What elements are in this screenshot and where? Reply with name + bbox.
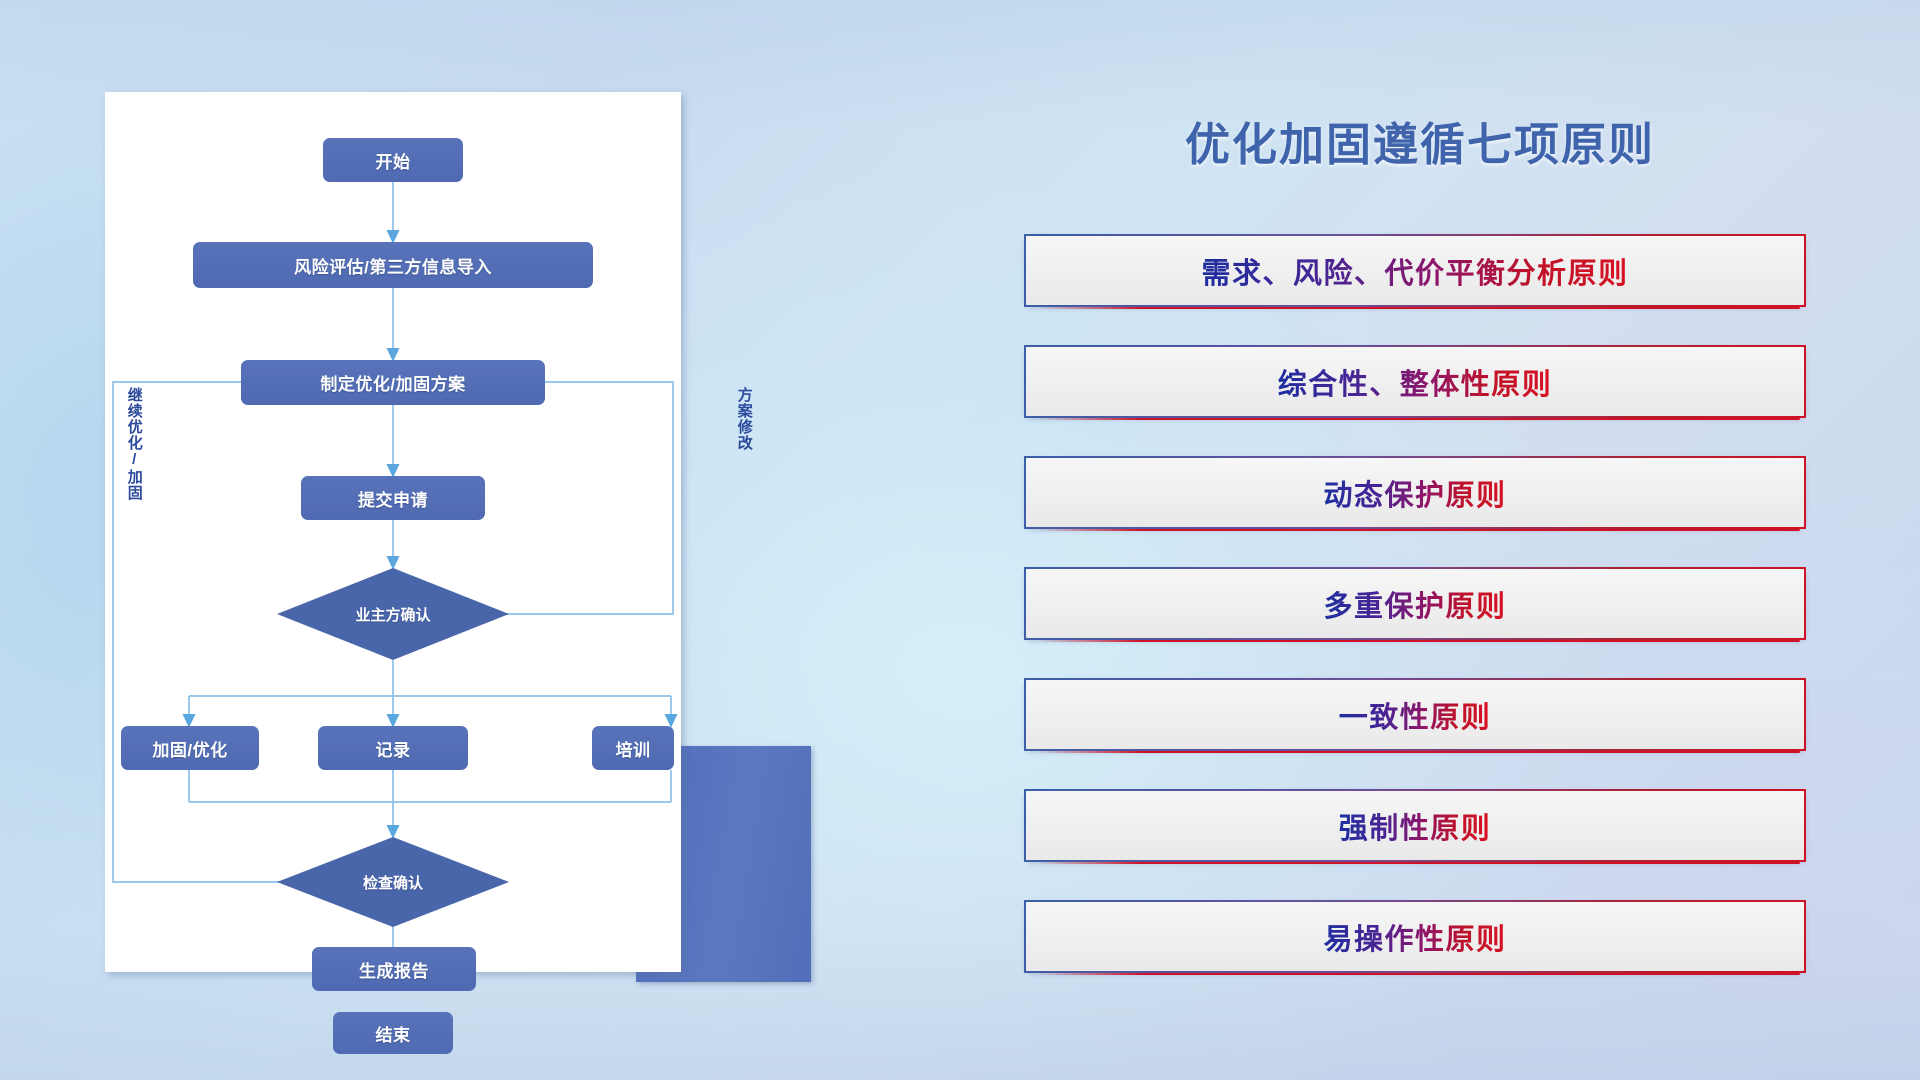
flow-edge-label-plan-revision: 方案修改 [736,387,752,451]
principle-item-7[interactable]: 易操作性原则 [1024,900,1806,973]
flow-edge-label-continue-optimize: 继续优化/加固 [126,387,142,501]
flow-node-owner-confirm[interactable]: 业主方确认 [277,568,509,660]
principle-label: 动态保护原则 [1323,472,1506,514]
principle-item-5[interactable]: 一致性原则 [1024,678,1806,751]
principle-item-6[interactable]: 强制性原则 [1024,789,1806,862]
principle-item-3[interactable]: 动态保护原则 [1024,456,1806,529]
flow-node-end[interactable]: 结束 [333,1012,453,1054]
principle-label: 综合性、整体性原则 [1278,361,1553,403]
flow-node-plan[interactable]: 制定优化/加固方案 [241,360,545,405]
principle-label: 易操作性原则 [1323,916,1506,958]
principle-label: 一致性原则 [1339,694,1492,736]
principle-item-2[interactable]: 综合性、整体性原则 [1024,345,1806,418]
flow-node-reinforce[interactable]: 加固/优化 [121,726,259,770]
slide-canvas: 开始 风险评估/第三方信息导入 制定优化/加固方案 提交申请 业主方确认 加固/… [0,0,1920,1080]
flow-node-owner-confirm-label: 业主方确认 [355,604,430,625]
principle-item-4[interactable]: 多重保护原则 [1024,567,1806,640]
flowchart-card: 开始 风险评估/第三方信息导入 制定优化/加固方案 提交申请 业主方确认 加固/… [105,92,681,972]
principles-list: 需求、风险、代价平衡分析原则 综合性、整体性原则 动态保护原则 多重保护原则 一… [1024,234,1806,1011]
flow-node-generate-report[interactable]: 生成报告 [312,947,476,991]
flow-node-training[interactable]: 培训 [592,726,674,770]
flow-node-check-confirm[interactable]: 检查确认 [277,837,509,927]
principle-label: 强制性原则 [1339,805,1492,847]
principle-item-1[interactable]: 需求、风险、代价平衡分析原则 [1024,234,1806,307]
principle-label: 需求、风险、代价平衡分析原则 [1201,250,1628,292]
flow-node-record[interactable]: 记录 [318,726,468,770]
flow-node-check-confirm-label: 检查确认 [363,872,423,893]
page-title: 优化加固遵循七项原则 [1020,108,1820,173]
principle-label: 多重保护原则 [1323,583,1506,625]
flow-node-risk-assessment[interactable]: 风险评估/第三方信息导入 [193,242,593,288]
flow-node-submit-application[interactable]: 提交申请 [301,476,485,520]
flow-node-start[interactable]: 开始 [323,138,463,182]
